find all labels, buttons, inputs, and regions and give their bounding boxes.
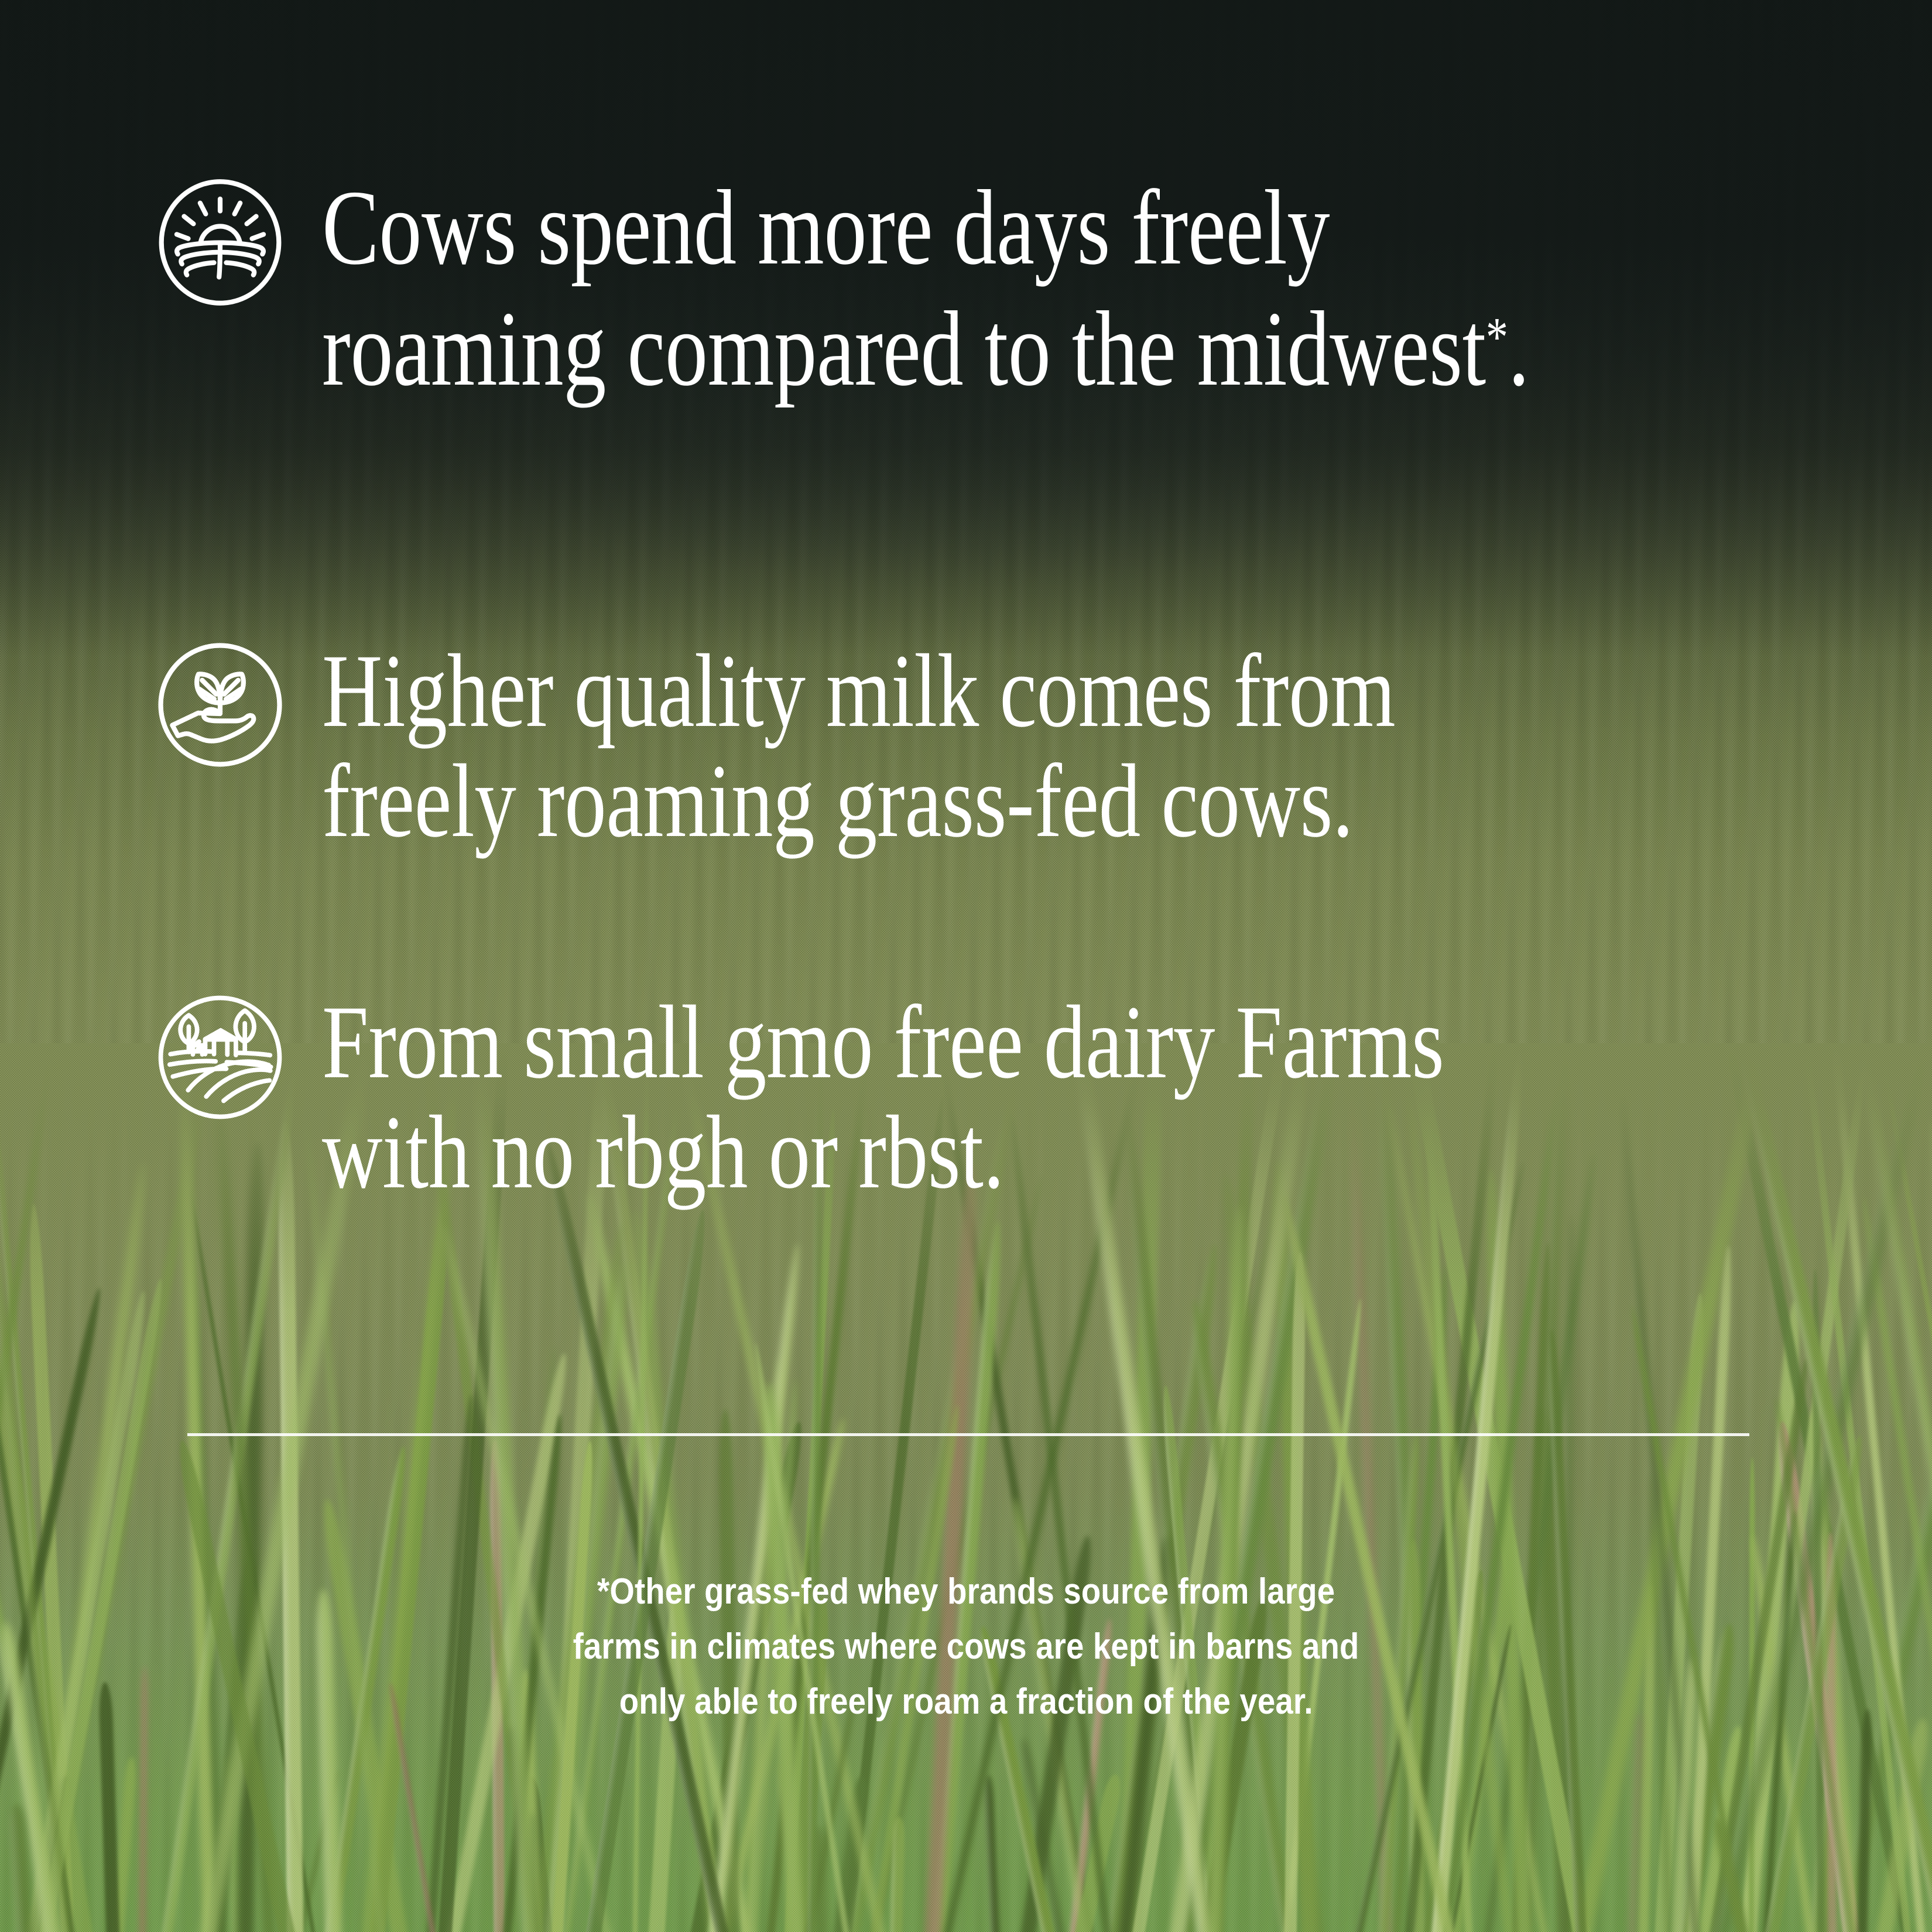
sun-over-field-icon	[153, 176, 287, 309]
benefit-row: From small gmo free dairy Farms with no …	[153, 987, 1844, 1207]
promo-graphic: Cows spend more days freely roaming comp…	[0, 0, 1932, 1932]
benefit-row: Higher quality milk comes from freely ro…	[153, 636, 1844, 856]
footnote-line: *Other grass-fed whey brands source from…	[351, 1564, 1581, 1619]
footnote-line-text: farms in climates where cows are kept in…	[573, 1619, 1359, 1674]
footnote-line: only able to freely roam a fraction of t…	[351, 1674, 1581, 1729]
benefit-headline: Cows spend more days freely roaming comp…	[322, 167, 1540, 410]
benefit-row: Cows spend more days freely roaming comp…	[153, 167, 1844, 410]
benefit-headline: Higher quality milk comes from freely ro…	[322, 636, 1540, 856]
benefit-headline-main: Cows spend more days freely roaming comp…	[322, 168, 1486, 408]
hand-holding-sprout-icon	[153, 638, 287, 772]
benefit-headline: From small gmo free dairy Farms with no …	[322, 987, 1540, 1207]
benefit-headline-main: Higher quality milk comes from freely ro…	[322, 632, 1395, 859]
footnote-line-text: only able to freely roam a fraction of t…	[619, 1674, 1313, 1729]
footnote-line-text: *Other grass-fed whey brands source from…	[597, 1564, 1335, 1619]
content-layer: Cows spend more days freely roaming comp…	[0, 0, 1932, 1932]
horizontal-divider	[187, 1433, 1749, 1436]
benefit-headline-tail: .	[1508, 289, 1529, 408]
footnote-marker: *	[1486, 306, 1508, 368]
footnote: *Other grass-fed whey brands source from…	[351, 1564, 1581, 1730]
benefit-headline-main: From small gmo free dairy Farms with no …	[322, 984, 1444, 1210]
barn-with-fields-icon	[153, 991, 287, 1124]
footnote-line: farms in climates where cows are kept in…	[351, 1619, 1581, 1674]
